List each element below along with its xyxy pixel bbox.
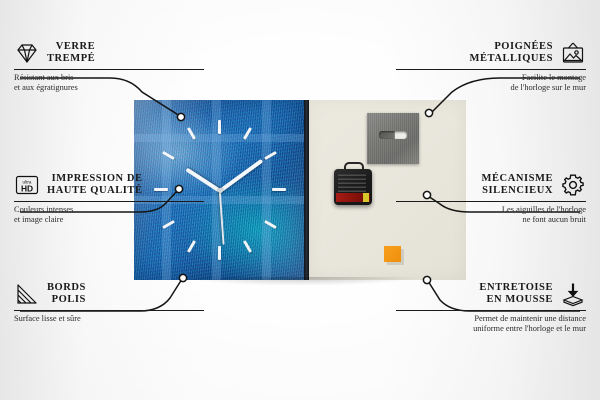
callout-verre-trempe: VERRE TREMPÉ Résistant aux bris et aux é… [14,40,204,93]
diamond-icon [14,40,40,66]
battery-indicator [363,193,369,202]
print-grid-line [134,134,306,142]
callout-subtitle: Les aiguilles de l'horloge ne font aucun… [396,205,586,225]
ultra-hd-icon: ultra HD [14,172,40,198]
callout-impression-haute-qualite: ultra HD IMPRESSION DE HAUTE QUALITÉ Cou… [14,172,204,225]
callout-rule [396,69,586,70]
callout-subtitle: Surface lisse et sûre [14,314,204,324]
callout-title: VERRE TREMPÉ [47,41,95,66]
callout-poignees-metalliques: POIGNÉES MÉTALLIQUES Facilite le montage… [396,40,586,93]
callout-mecanisme-silencieux: MÉCANISME SILENCIEUX Les aiguilles de l'… [396,172,586,225]
clock-mechanism [334,169,372,205]
callout-title: MÉCANISME SILENCIEUX [482,173,553,198]
foam-spacer [384,246,401,262]
clock-tick [218,246,221,260]
clock-tick [243,240,252,253]
clock-tick [218,120,221,134]
clock-tick [187,240,196,253]
callout-rule [14,201,204,202]
callout-subtitle: Permet de maintenir une distance uniform… [396,314,586,334]
callout-title: BORDS POLIS [47,282,86,307]
callout-title: ENTRETOISE EN MOUSSE [479,282,553,307]
callout-rule [396,201,586,202]
arrow-down-stack-icon [560,281,586,307]
callout-subtitle: Couleurs intenses et image claire [14,205,204,225]
hatched-edge-icon [14,281,40,307]
clock-tick [272,188,286,191]
callout-rule [396,310,586,311]
clock-hands-hub [218,188,223,193]
callout-entretoise-en-mousse: ENTRETOISE EN MOUSSE Permet de maintenir… [396,281,586,334]
gear-icon [560,172,586,198]
infographic-canvas: VERRE TREMPÉ Résistant aux bris et aux é… [0,0,600,400]
metal-hanger-plate [367,113,419,164]
keyhole-slot [379,131,407,139]
callout-title: IMPRESSION DE HAUTE QUALITÉ [47,173,143,198]
clock-minute-hand [219,159,263,193]
print-grid-line [262,100,271,280]
svg-text:HD: HD [21,183,33,193]
picture-frame-hanger-icon [560,40,586,66]
callout-rule [14,69,204,70]
callout-subtitle: Facilite le montage de l'horloge sur le … [396,73,586,93]
callout-bords-polis: BORDS POLIS Surface lisse et sûre [14,281,204,324]
callout-subtitle: Résistant aux bris et aux égratignures [14,73,204,93]
callout-title: POIGNÉES MÉTALLIQUES [470,41,553,66]
mechanism-print [338,174,366,192]
callout-rule [14,310,204,311]
